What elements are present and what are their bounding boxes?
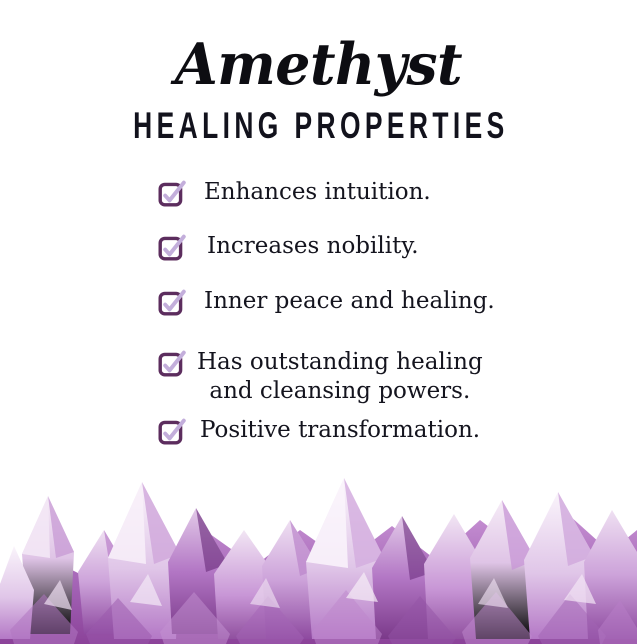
page-subtitle: HEALING PROPERTIES	[64, 93, 574, 143]
checkbox-checked-icon	[158, 351, 188, 378]
list-item-label: Enhances intuition.	[188, 178, 431, 207]
page-title: Amethyst	[10, 36, 628, 93]
list-item-label: Has outstanding healing and cleansing po…	[188, 348, 483, 406]
list-item: Increases nobility.	[158, 232, 419, 262]
poster-header: Amethyst HEALING PROPERTIES	[0, 0, 637, 138]
list-item-label: Inner peace and healing.	[188, 287, 495, 316]
amethyst-healing-properties-poster: Amethyst HEALING PROPERTIES Enhances int…	[0, 0, 637, 644]
amethyst-crystal-cluster-image	[0, 434, 637, 644]
checkbox-checked-icon	[158, 290, 188, 317]
list-item: Enhances intuition.	[158, 178, 431, 208]
list-item: Has outstanding healing and cleansing po…	[158, 348, 483, 406]
list-item-label: Increases nobility.	[188, 232, 419, 261]
list-item: Inner peace and healing.	[158, 287, 495, 317]
checkbox-checked-icon	[158, 181, 188, 208]
checkbox-checked-icon	[158, 235, 188, 262]
